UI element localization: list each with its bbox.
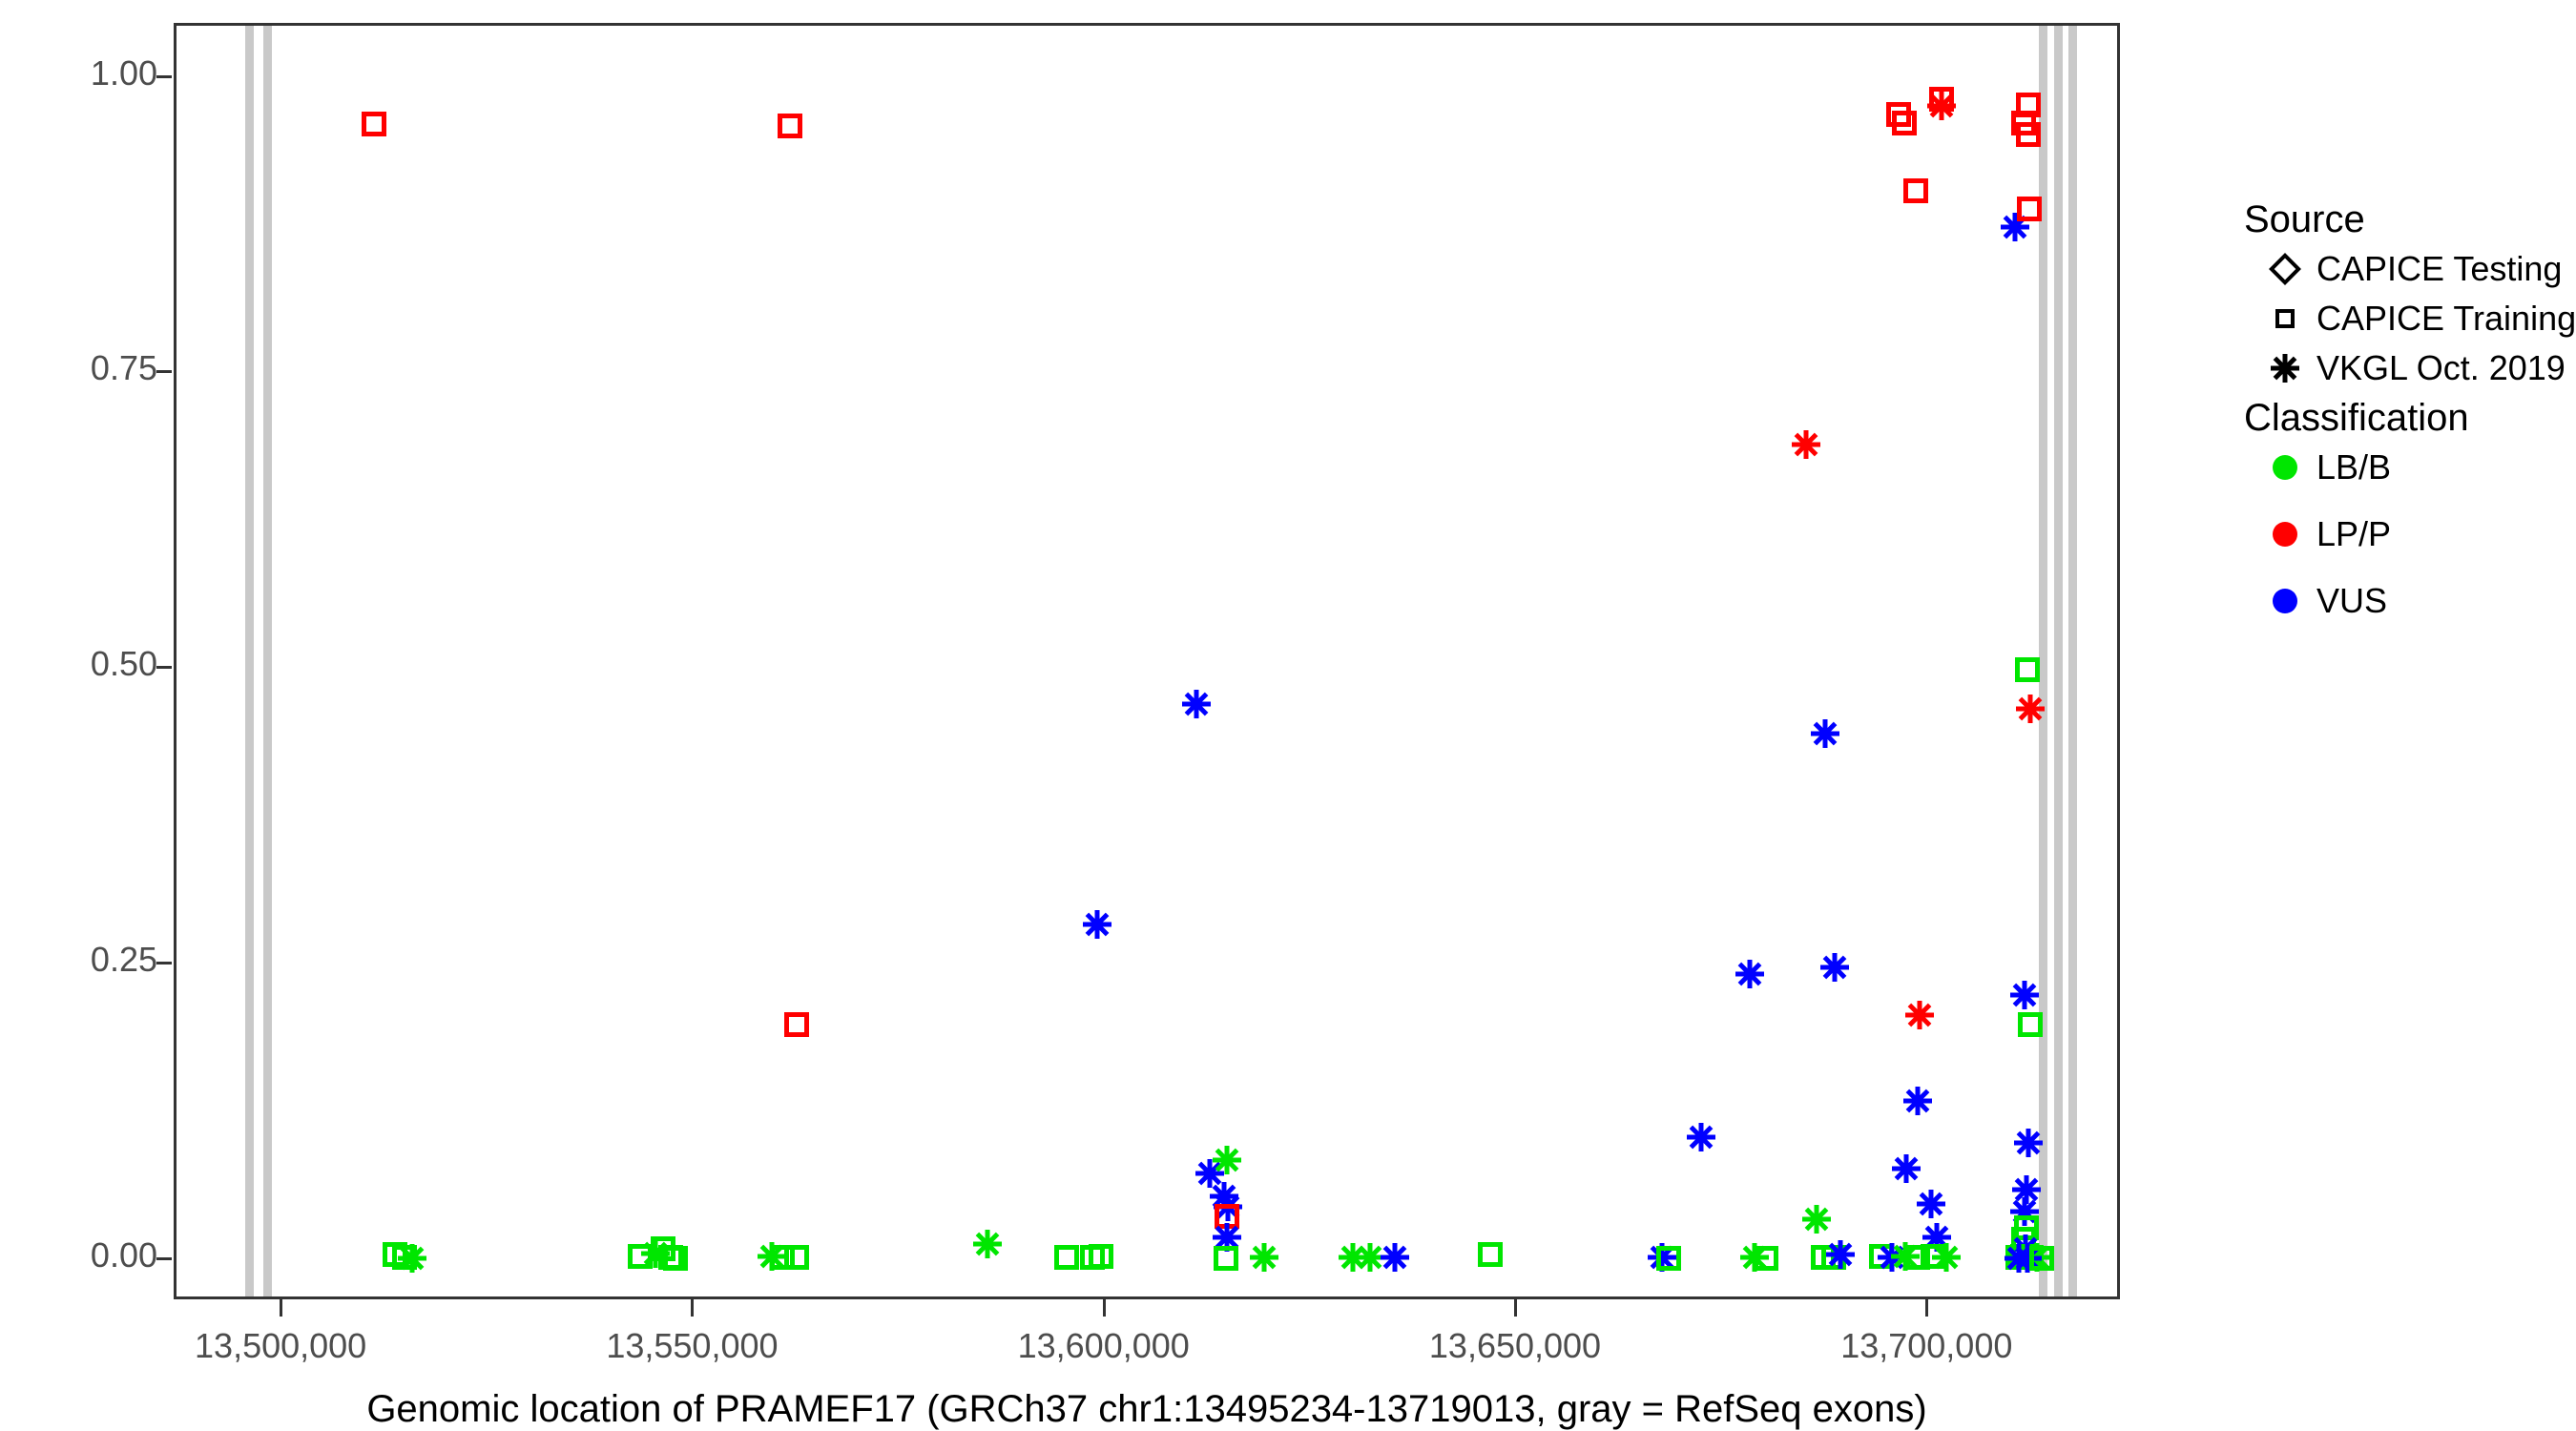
- square-icon: [2254, 309, 2316, 328]
- data-point: [1905, 1245, 1930, 1270]
- x-tick-label: 13,600,000: [961, 1326, 1247, 1366]
- legend-label: VUS: [2316, 581, 2387, 621]
- exon-bar: [2039, 26, 2047, 1296]
- data-point: [1903, 178, 1928, 203]
- x-tick-label: 13,700,000: [1783, 1326, 2069, 1366]
- data-point: [1754, 1246, 1778, 1271]
- data-point: [1354, 1241, 1386, 1274]
- legend-item-source[interactable]: CAPICE Testing: [2254, 246, 2562, 292]
- x-tick-label: 13,550,000: [549, 1326, 835, 1366]
- data-point: [658, 1245, 683, 1270]
- scatter-plot-figure: CAPICE score (pathogenicity estimate) 0.…: [0, 0, 2576, 1431]
- data-point: [1248, 1241, 1280, 1274]
- data-point: [1892, 111, 1917, 135]
- legend: Source CAPICE TestingCAPICE TrainingVKGL…: [2223, 0, 2576, 1431]
- exon-bar: [2068, 26, 2077, 1296]
- data-point: [1821, 1245, 1846, 1270]
- data-point: [778, 114, 802, 138]
- data-point: [1194, 1157, 1226, 1190]
- data-point: [1738, 1241, 1771, 1274]
- data-point: [2016, 93, 2041, 117]
- legend-label: LP/P: [2316, 514, 2391, 554]
- data-point: [1212, 1191, 1244, 1223]
- y-tick-mark: [156, 962, 172, 964]
- legend-item-source[interactable]: CAPICE Training: [2254, 296, 2576, 342]
- x-tick-mark: [280, 1299, 282, 1317]
- data-point: [1818, 951, 1851, 984]
- data-point: [2021, 1241, 2053, 1274]
- legend-label: CAPICE Training: [2316, 299, 2576, 339]
- data-point: [770, 1245, 795, 1270]
- data-point: [784, 1012, 809, 1037]
- color-swatch-icon: [2254, 455, 2316, 480]
- data-point: [663, 1246, 688, 1271]
- data-point: [1211, 1144, 1243, 1176]
- data-point: [1889, 1240, 1922, 1273]
- data-point: [1800, 1203, 1833, 1235]
- data-point: [2010, 1244, 2035, 1269]
- legend-item-source[interactable]: VKGL Oct. 2019: [2254, 345, 2566, 391]
- data-point: [1379, 1241, 1411, 1274]
- data-point: [1886, 102, 1911, 127]
- legend-source-title: Source: [2244, 198, 2365, 241]
- data-point: [1656, 1246, 1681, 1271]
- legend-item-classification[interactable]: LP/P: [2254, 511, 2391, 557]
- y-tick-label: 0.00: [0, 1235, 157, 1275]
- data-point: [1211, 1221, 1243, 1254]
- data-point: [1869, 1244, 1894, 1269]
- x-tick-label: 13,500,000: [137, 1326, 424, 1366]
- color-swatch-icon: [2254, 589, 2316, 613]
- data-point: [1921, 1221, 1953, 1254]
- data-point: [1876, 1241, 1908, 1274]
- data-point: [383, 1242, 407, 1267]
- y-tick-label: 0.75: [0, 348, 157, 388]
- data-point: [756, 1240, 788, 1273]
- legend-item-classification[interactable]: VUS: [2254, 578, 2387, 624]
- data-point: [1929, 87, 1954, 112]
- data-point: [2011, 111, 2036, 135]
- data-point: [2014, 1215, 2039, 1240]
- data-point: [2009, 1233, 2042, 1265]
- legend-label: CAPICE Testing: [2316, 249, 2562, 289]
- data-point: [1915, 1188, 1947, 1220]
- legend-classification-title: Classification: [2244, 397, 2469, 440]
- y-tick-label: 0.25: [0, 940, 157, 980]
- x-tick-mark: [691, 1299, 694, 1317]
- data-point: [2017, 197, 2042, 221]
- data-point: [2016, 122, 2041, 147]
- data-point: [1478, 1242, 1503, 1267]
- y-tick-mark: [156, 1257, 172, 1260]
- color-swatch-icon: [2254, 522, 2316, 547]
- data-point: [1903, 999, 1936, 1031]
- data-point: [651, 1236, 675, 1261]
- plot-panel: [174, 23, 2120, 1299]
- x-axis-title: Genomic location of PRAMEF17 (GRCh37 chr…: [0, 1388, 2294, 1431]
- data-point: [1824, 1238, 1857, 1271]
- data-point: [1337, 1241, 1369, 1274]
- data-point: [1685, 1121, 1717, 1153]
- asterisk-icon: [2254, 352, 2316, 384]
- data-point: [1930, 1241, 1963, 1274]
- data-point: [971, 1228, 1004, 1260]
- exon-bar: [2054, 26, 2063, 1296]
- data-point: [2015, 657, 2040, 682]
- data-point: [1180, 688, 1213, 720]
- legend-item-classification[interactable]: LB/B: [2254, 445, 2391, 490]
- data-point: [1790, 428, 1822, 461]
- data-point: [2005, 1245, 2030, 1270]
- data-point: [396, 1242, 428, 1275]
- y-tick-mark: [156, 666, 172, 669]
- data-point: [1646, 1241, 1678, 1274]
- data-point: [2010, 1173, 2043, 1206]
- diamond-icon: [2254, 258, 2316, 280]
- data-point: [1089, 1244, 1113, 1269]
- data-point: [2011, 1227, 2036, 1252]
- data-point: [2003, 1242, 2035, 1275]
- data-point: [639, 1237, 672, 1270]
- data-point: [1809, 717, 1841, 750]
- data-point: [1215, 1204, 1239, 1229]
- data-point: [392, 1245, 417, 1270]
- data-point: [1214, 1246, 1238, 1271]
- data-point: [1811, 1245, 1836, 1270]
- x-tick-mark: [1514, 1299, 1517, 1317]
- data-point: [1734, 958, 1766, 990]
- data-point: [1999, 211, 2031, 243]
- data-point: [1080, 1245, 1105, 1270]
- data-point: [628, 1244, 653, 1269]
- data-point: [1921, 1244, 1945, 1269]
- x-tick-mark: [1103, 1299, 1106, 1317]
- y-tick-mark: [156, 75, 172, 78]
- y-tick-label: 1.00: [0, 53, 157, 93]
- y-tick-mark: [156, 370, 172, 373]
- exon-bar: [245, 26, 254, 1296]
- x-tick-label: 13,650,000: [1372, 1326, 1658, 1366]
- data-point: [1054, 1245, 1079, 1270]
- exon-bar: [263, 26, 272, 1296]
- x-tick-mark: [1925, 1299, 1928, 1317]
- data-point: [1890, 1152, 1922, 1185]
- legend-label: LB/B: [2316, 447, 2391, 487]
- data-point: [362, 112, 386, 136]
- legend-label: VKGL Oct. 2019: [2316, 348, 2566, 388]
- y-tick-label: 0.50: [0, 644, 157, 684]
- data-point: [1925, 90, 1958, 122]
- data-point: [2008, 979, 2041, 1011]
- data-point: [1208, 1180, 1240, 1213]
- data-point: [1901, 1085, 1934, 1117]
- data-point: [1081, 908, 1113, 941]
- data-point: [2008, 1195, 2041, 1228]
- data-point: [784, 1245, 809, 1270]
